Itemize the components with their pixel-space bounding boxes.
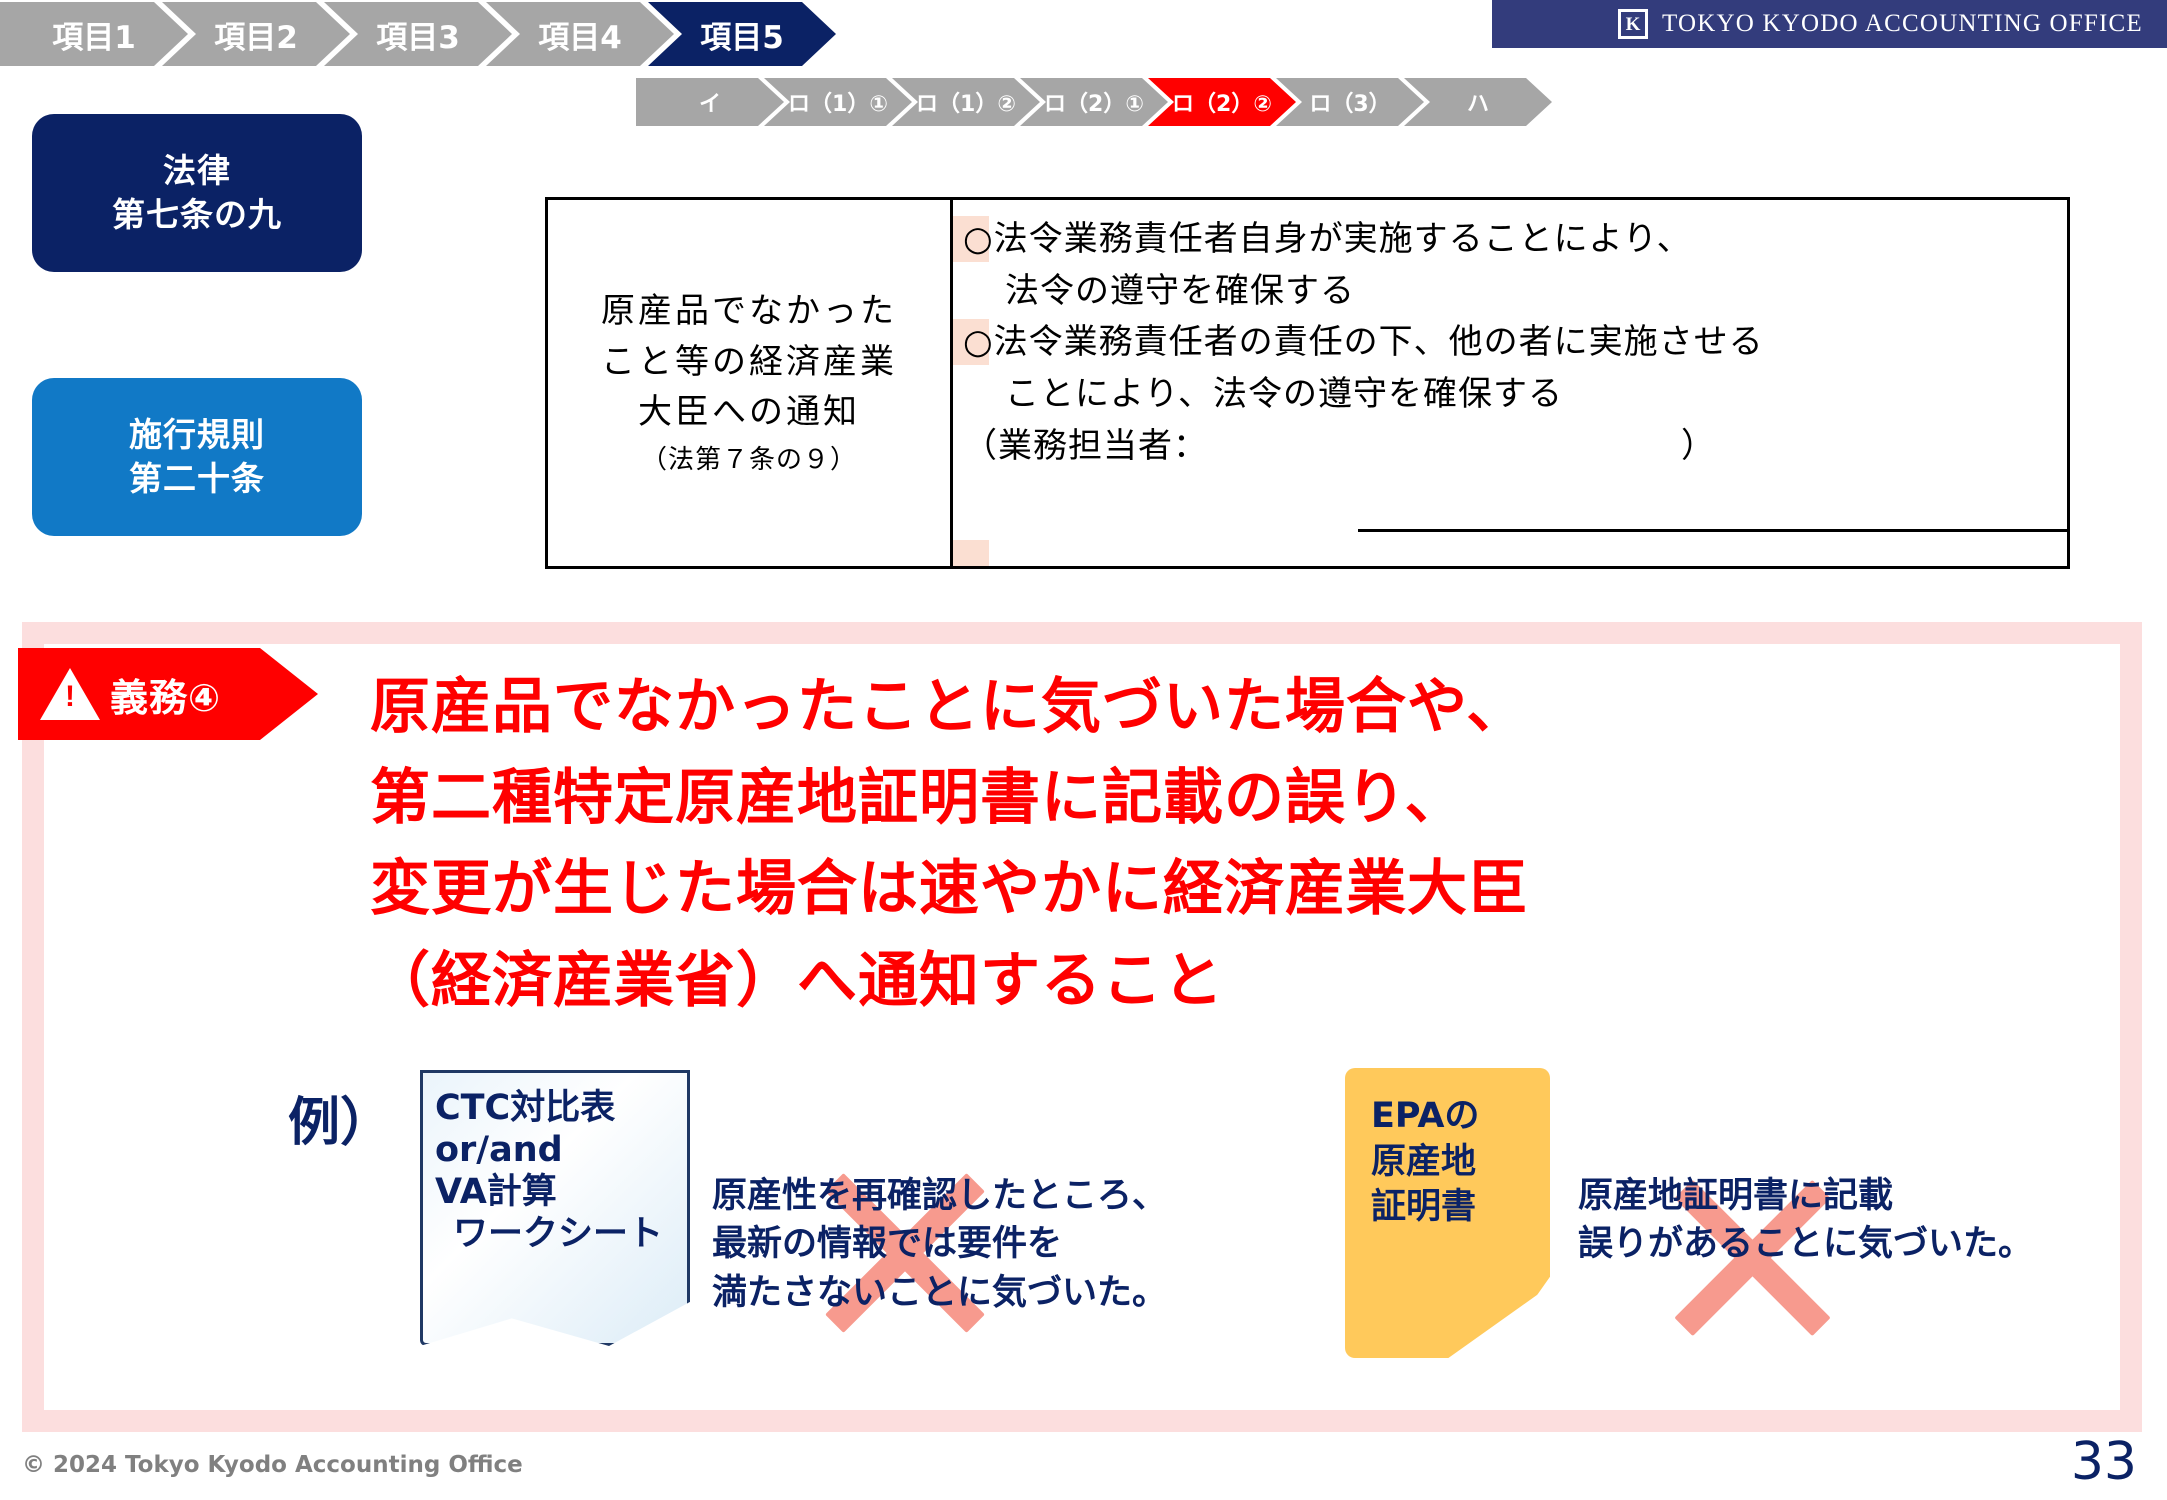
bullet-text-1: 法令業務責任者自身が実施することにより、: [994, 219, 1692, 259]
ctc-doc-line-3: VA計算: [435, 1171, 677, 1213]
breadcrumb-primary-label: 項目2: [214, 12, 298, 57]
breadcrumb-secondary-item-3[interactable]: ロ（1）②: [892, 78, 1040, 126]
ctc-worksheet-document-icon: CTC対比表 or/and VA計算 ワークシート: [420, 1070, 690, 1346]
breadcrumb-secondary-item-7[interactable]: ハ: [1404, 78, 1552, 126]
ctc-doc-line-1: CTC対比表: [435, 1087, 677, 1129]
article-table-right-cell: ○法令業務責任者自身が実施することにより、 法令の遵守を確保する ○法令業務責任…: [953, 200, 2067, 566]
breadcrumb-secondary-label: ロ（2）②: [1172, 86, 1272, 118]
headline-line-2: 第二種特定原産地証明書に記載の誤り、: [370, 753, 2070, 844]
epa-doc-line-1: EPAの: [1371, 1094, 1550, 1140]
breadcrumb-primary-label: 項目4: [538, 12, 622, 57]
brand-bar: K TOKYO KYODO ACCOUNTING OFFICE: [1492, 0, 2167, 48]
page-number: 33: [2071, 1432, 2137, 1492]
headline-line-3: 変更が生じた場合は速やかに経済産業大臣: [370, 844, 2070, 935]
person-in-charge-label: （業務担当者： ）: [963, 426, 1716, 466]
badge-rule-line1: 施行規則: [129, 413, 265, 457]
example-note-1-line-3: 満たさないことに気づいた。: [712, 1269, 1167, 1317]
brand-logo-icon: K: [1618, 9, 1648, 39]
breadcrumb-primary-item-5-active[interactable]: 項目5: [648, 2, 836, 66]
headline-line-1: 原産品でなかったことに気づいた場合や、: [370, 662, 2070, 753]
example-note-1-line-1: 原産性を再確認したところ、: [712, 1172, 1167, 1220]
breadcrumb-secondary-label: イ: [699, 86, 721, 118]
example-note-2-line-2: 誤りがあることに気づいた。: [1578, 1220, 2033, 1268]
left-cell-note: （法第７条の９）: [641, 441, 857, 479]
example-note-1: 原産性を再確認したところ、 最新の情報では要件を 満たさないことに気づいた。: [712, 1172, 1167, 1317]
badge-law-line1: 法律: [112, 149, 282, 193]
copyright-text: © 2024 Tokyo Kyodo Accounting Office: [22, 1452, 523, 1478]
badge-law: 法律 第七条の九: [32, 114, 362, 272]
breadcrumb-secondary-label: ハ: [1467, 86, 1489, 118]
bullet-text-1b: 法令の遵守を確保する: [963, 266, 2067, 318]
breadcrumb-primary: 項目1 項目2 項目3 項目4 項目5: [0, 2, 810, 66]
obligation-flag: 義務④: [18, 648, 318, 740]
example-label: 例）: [288, 1080, 392, 1155]
ctc-doc-line-4: ワークシート: [435, 1213, 677, 1255]
breadcrumb-secondary-label: ロ（1）②: [916, 86, 1016, 118]
breadcrumb-primary-label: 項目1: [52, 12, 136, 57]
brand-name: TOKYO KYODO ACCOUNTING OFFICE: [1662, 10, 2143, 38]
obligation-flag-label: 義務④: [110, 667, 221, 722]
article-footer-field: （業務担当者： ）: [953, 421, 2067, 473]
left-cell-line3: 大臣への通知: [638, 387, 860, 437]
bullet-mark-2: ○: [963, 322, 994, 362]
example-note-2: 原産地証明書に記載 誤りがあることに気づいた。: [1578, 1172, 2033, 1269]
article-table-left-cell: 原産品でなかった こと等の経済産業 大臣への通知 （法第７条の９）: [548, 200, 953, 566]
breadcrumb-primary-label: 項目5: [700, 12, 784, 57]
obligation-headline: 原産品でなかったことに気づいた場合や、 第二種特定原産地証明書に記載の誤り、 変…: [370, 662, 2070, 1027]
breadcrumb-secondary-item-2[interactable]: ロ（1）①: [764, 78, 912, 126]
headline-line-4: （経済産業省）へ通知すること: [370, 936, 2070, 1027]
article-bullet-1: ○法令業務責任者自身が実施することにより、 法令の遵守を確保する: [953, 214, 2067, 317]
bullet-highlight-stub: [953, 540, 989, 566]
breadcrumb-secondary-label: ロ（3）: [1309, 86, 1390, 118]
epa-doc-line-3: 証明書: [1371, 1185, 1550, 1231]
table-row-divider: [1358, 529, 2067, 532]
breadcrumb-primary-label: 項目3: [376, 12, 460, 57]
badge-law-line2: 第七条の九: [112, 193, 282, 237]
example-note-1-line-2: 最新の情報では要件を: [712, 1220, 1167, 1268]
breadcrumb-secondary-item-5-active[interactable]: ロ（2）②: [1148, 78, 1296, 126]
badge-enforcement-rule: 施行規則 第二十条: [32, 378, 362, 536]
breadcrumb-secondary-label: ロ（2）①: [1044, 86, 1144, 118]
breadcrumb-secondary-item-6[interactable]: ロ（3）: [1276, 78, 1424, 126]
breadcrumb-primary-item-2[interactable]: 項目2: [162, 2, 350, 66]
ctc-doc-line-2: or/and: [435, 1129, 677, 1171]
epa-doc-line-2: 原産地: [1371, 1140, 1550, 1186]
breadcrumb-secondary: イ ロ（1）① ロ（1）② ロ（2）① ロ（2）② ロ（3） ハ: [636, 78, 1532, 126]
breadcrumb-secondary-item-4[interactable]: ロ（2）①: [1020, 78, 1168, 126]
breadcrumb-secondary-label: ロ（1）①: [788, 86, 888, 118]
left-cell-line1: 原産品でなかった: [601, 286, 897, 336]
left-cell-line2: こと等の経済産業: [601, 337, 897, 387]
breadcrumb-primary-item-4[interactable]: 項目4: [486, 2, 674, 66]
breadcrumb-primary-item-3[interactable]: 項目3: [324, 2, 512, 66]
breadcrumb-primary-item-1[interactable]: 項目1: [0, 2, 188, 66]
warning-triangle-icon: [40, 668, 100, 720]
article-table: 原産品でなかった こと等の経済産業 大臣への通知 （法第７条の９） ○法令業務責…: [545, 197, 2070, 569]
badge-rule-line2: 第二十条: [129, 457, 265, 501]
bullet-mark-1: ○: [963, 219, 994, 259]
example-note-2-line-1: 原産地証明書に記載: [1578, 1172, 2033, 1220]
article-bullet-2: ○法令業務責任者の責任の下、他の者に実施させる ことにより、法令の遵守を確保する: [953, 317, 2067, 420]
breadcrumb-secondary-item-1[interactable]: イ: [636, 78, 784, 126]
bullet-text-2: 法令業務責任者の責任の下、他の者に実施させる: [994, 322, 1764, 362]
bullet-text-2b: ことにより、法令の遵守を確保する: [963, 369, 2067, 421]
